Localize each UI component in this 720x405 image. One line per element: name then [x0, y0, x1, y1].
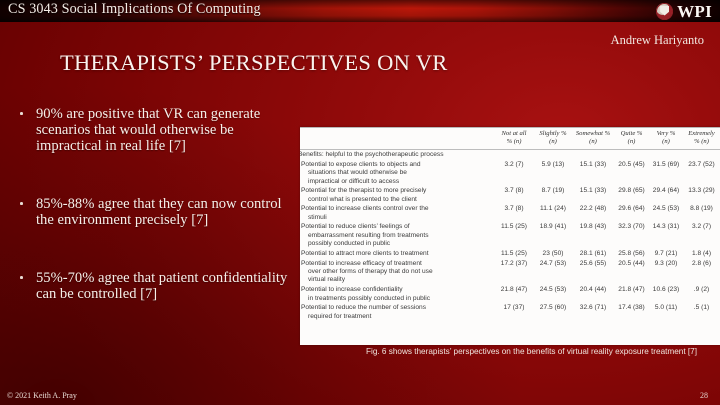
table-header-rowlabel [300, 127, 494, 150]
author-name: Andrew Hariyanto [611, 33, 704, 48]
table-row-label: Potential to reduce clients’ feelings of… [300, 223, 494, 250]
table-cell: 15.1 (33) [572, 160, 614, 187]
table-cell: 11.1 (24) [534, 205, 572, 223]
table-cell: 21.8 (47) [494, 285, 534, 303]
table-cell: 21.8 (47) [614, 285, 649, 303]
table-cell: 20.5 (45) [614, 160, 649, 187]
table-cell: 23 (50) [534, 249, 572, 259]
copyright-notice: © 2021 Keith A. Pray [7, 391, 77, 400]
course-title: CS 3043 Social Implications Of Computing [8, 1, 261, 18]
table-cell: 31.5 (69) [649, 160, 683, 187]
table-cell: 28.1 (61) [572, 249, 614, 259]
table-cell: .5 (1) [683, 304, 720, 322]
wpi-logo: WPI [656, 1, 712, 21]
table-cell: 32.6 (71) [572, 304, 614, 322]
table-header-slightly: Slightly % (n) [534, 127, 572, 150]
figure-caption: Fig. 6 shows therapists’ perspectives on… [366, 347, 716, 358]
figure-image: Not at all % (n) Slightly % (n) Somewhat… [300, 127, 720, 345]
list-item-text: 90% are positive that VR can generate sc… [36, 106, 260, 154]
table-cell: 13.3 (29) [683, 187, 720, 205]
table-cell: 27.5 (60) [534, 304, 572, 322]
table-cell: 24.5 (53) [534, 285, 572, 303]
table-cell: 11.5 (25) [494, 223, 534, 250]
table-row-label: Potential to expose clients to objects a… [300, 160, 494, 187]
table-header-extremely: Extremely % (n) [683, 127, 720, 150]
table-cell: 24.5 (53) [649, 205, 683, 223]
table-cell: 3.7 (8) [494, 187, 534, 205]
table-cell: 29.4 (64) [649, 187, 683, 205]
table-cell: 22.2 (48) [572, 205, 614, 223]
table-cell: 17.2 (37) [494, 259, 534, 286]
list-item: 90% are positive that VR can generate sc… [14, 106, 296, 154]
wpi-seal-icon [656, 3, 673, 20]
table-row: Potential to increase efficacy of treatm… [300, 259, 720, 286]
list-item-text: 85%-88% agree that they can now control … [36, 196, 282, 228]
table-row-label: Potential to attract more clients to tre… [300, 249, 494, 259]
table-cell: 19.8 (43) [572, 223, 614, 250]
table-header-not-at-all: Not at all % (n) [494, 127, 534, 150]
bullet-dot-icon [20, 112, 23, 115]
table-header-somewhat: Somewhat % (n) [572, 127, 614, 150]
table-cell: 9.7 (21) [649, 249, 683, 259]
table-cell: 25.6 (55) [572, 259, 614, 286]
table-row: Potential to attract more clients to tre… [300, 249, 720, 259]
table-row: Potential to reduce the number of sessio… [300, 304, 720, 322]
slide-number: 28 [700, 391, 708, 400]
table-cell: 29.6 (64) [614, 205, 649, 223]
table-cell: 18.9 (41) [534, 223, 572, 250]
table-cell: 20.4 (44) [572, 285, 614, 303]
table-cell: 3.2 (7) [683, 223, 720, 250]
table-row: Potential to increase clients control ov… [300, 205, 720, 223]
table-header-row: Not at all % (n) Slightly % (n) Somewhat… [300, 127, 720, 150]
table-header-very: Very % (n) [649, 127, 683, 150]
table-cell: 10.6 (23) [649, 285, 683, 303]
table-cell: 11.5 (25) [494, 249, 534, 259]
wpi-logo-text: WPI [677, 3, 712, 20]
list-item: 55%-70% agree that patient confidentiali… [14, 270, 296, 302]
table-row: Potential to expose clients to objects a… [300, 160, 720, 187]
table-cell: 1.8 (4) [683, 249, 720, 259]
table-cell: 29.8 (65) [614, 187, 649, 205]
list-item: 85%-88% agree that they can now control … [14, 196, 296, 228]
table-header-quite: Quite % (n) [614, 127, 649, 150]
table-row: Potential for the therapist to more prec… [300, 187, 720, 205]
page-title: THERAPISTS’ PERSPECTIVES ON VR [60, 50, 448, 76]
bullet-list: 90% are positive that VR can generate sc… [14, 106, 296, 302]
bullet-dot-icon [20, 276, 23, 279]
table-row-label: Potential for the therapist to more prec… [300, 187, 494, 205]
table-row-label: Potential to reduce the number of sessio… [300, 304, 494, 322]
table-cell: 3.7 (8) [494, 205, 534, 223]
table-row: Potential to increase confidentiality in… [300, 285, 720, 303]
table-cell: 5.9 (13) [534, 160, 572, 187]
table-section-label: Benefits: helpful to the psychotherapeut… [300, 150, 720, 160]
table-cell: 5.0 (11) [649, 304, 683, 322]
table-cell: 20.5 (44) [614, 259, 649, 286]
table-cell: 3.2 (7) [494, 160, 534, 187]
table-cell: 32.3 (70) [614, 223, 649, 250]
table-cell: 2.8 (6) [683, 259, 720, 286]
table-cell: 17 (37) [494, 304, 534, 322]
slide-canvas: CS 3043 Social Implications Of Computing… [0, 0, 720, 405]
table-row-label: Potential to increase efficacy of treatm… [300, 259, 494, 286]
table-cell: 23.7 (52) [683, 160, 720, 187]
table-section-row: Benefits: helpful to the psychotherapeut… [300, 150, 720, 160]
bullet-dot-icon [20, 202, 23, 205]
table-row-label: Potential to increase clients control ov… [300, 205, 494, 223]
table-cell: 9.3 (20) [649, 259, 683, 286]
table-cell: 17.4 (38) [614, 304, 649, 322]
table-cell: 14.3 (31) [649, 223, 683, 250]
table-row: Potential to reduce clients’ feelings of… [300, 223, 720, 250]
table-cell: 15.1 (33) [572, 187, 614, 205]
list-item-text: 55%-70% agree that patient confidentiali… [36, 270, 287, 302]
table-cell: 24.7 (53) [534, 259, 572, 286]
table-cell: 8.8 (19) [683, 205, 720, 223]
table-row-label: Potential to increase confidentiality in… [300, 285, 494, 303]
table-cell: .9 (2) [683, 285, 720, 303]
table-cell: 25.8 (56) [614, 249, 649, 259]
survey-results-table: Not at all % (n) Slightly % (n) Somewhat… [300, 127, 720, 322]
table-cell: 8.7 (19) [534, 187, 572, 205]
